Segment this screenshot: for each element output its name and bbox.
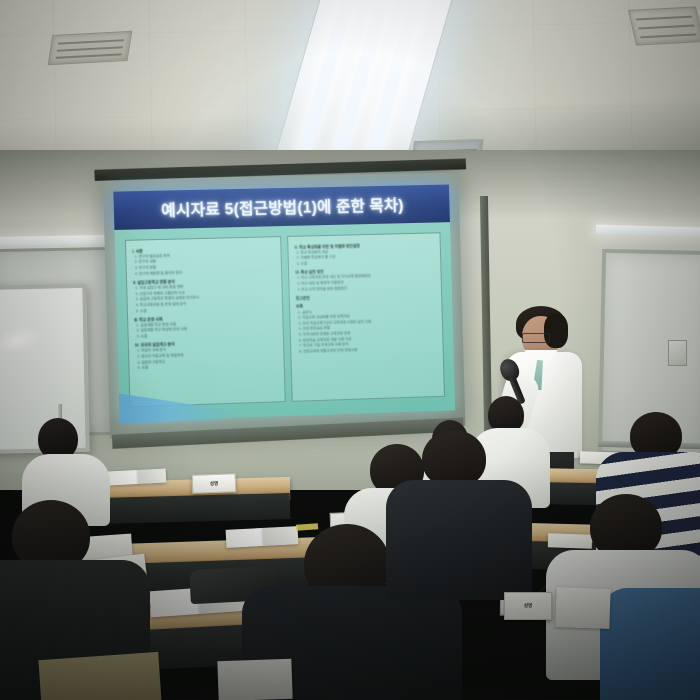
slide-toc-right-column: Ⅴ. 학교 특성화를 위한 및 차별화 방안설정1. 학교 특성화의 개념2. …: [287, 232, 445, 402]
name-tent-card: 성명: [192, 473, 237, 494]
presentation-slide: 예시자료 5(접근방법(1)에 준한 목차) Ⅰ. 서론1. 연구의 필요성과 …: [113, 185, 455, 422]
glasses-icon: [522, 333, 550, 343]
whiteboard-glare: [0, 322, 44, 358]
slide-body: Ⅰ. 서론1. 연구의 필요성과 목적2. 연구의 내용3. 연구의 방법4. …: [114, 222, 455, 422]
audience-member: [24, 418, 100, 508]
name-card-text: 성명: [210, 480, 218, 486]
handout-paper: [217, 659, 292, 700]
name-tent-card: 성명: [504, 592, 552, 620]
air-vent: [48, 31, 133, 65]
air-vent: [628, 6, 700, 45]
wall-switch-plate: [668, 340, 687, 366]
audience-member-blue: [600, 588, 700, 700]
name-card-text: 성명: [524, 603, 532, 609]
slide-toc-left-column: Ⅰ. 서론1. 연구의 필요성과 목적2. 연구의 내용3. 연구의 방법4. …: [125, 236, 286, 407]
handout-paper: [555, 587, 610, 629]
projection-screen: 예시자료 5(접근방법(1)에 준한 목차) Ⅰ. 서론1. 연구의 필요성과 …: [103, 172, 466, 438]
slide-title-text: 예시자료 5(접근방법(1)에 준한 목차): [161, 193, 404, 220]
audience-torso-blue-shirt: [600, 588, 700, 700]
audience-trousers: [38, 652, 161, 700]
audience-member: [392, 430, 522, 630]
audience-torso-dark: [386, 480, 532, 600]
seminar-room-photo: 예시자료 5(접근방법(1)에 준한 목차) Ⅰ. 서론1. 연구의 필요성과 …: [0, 0, 700, 700]
